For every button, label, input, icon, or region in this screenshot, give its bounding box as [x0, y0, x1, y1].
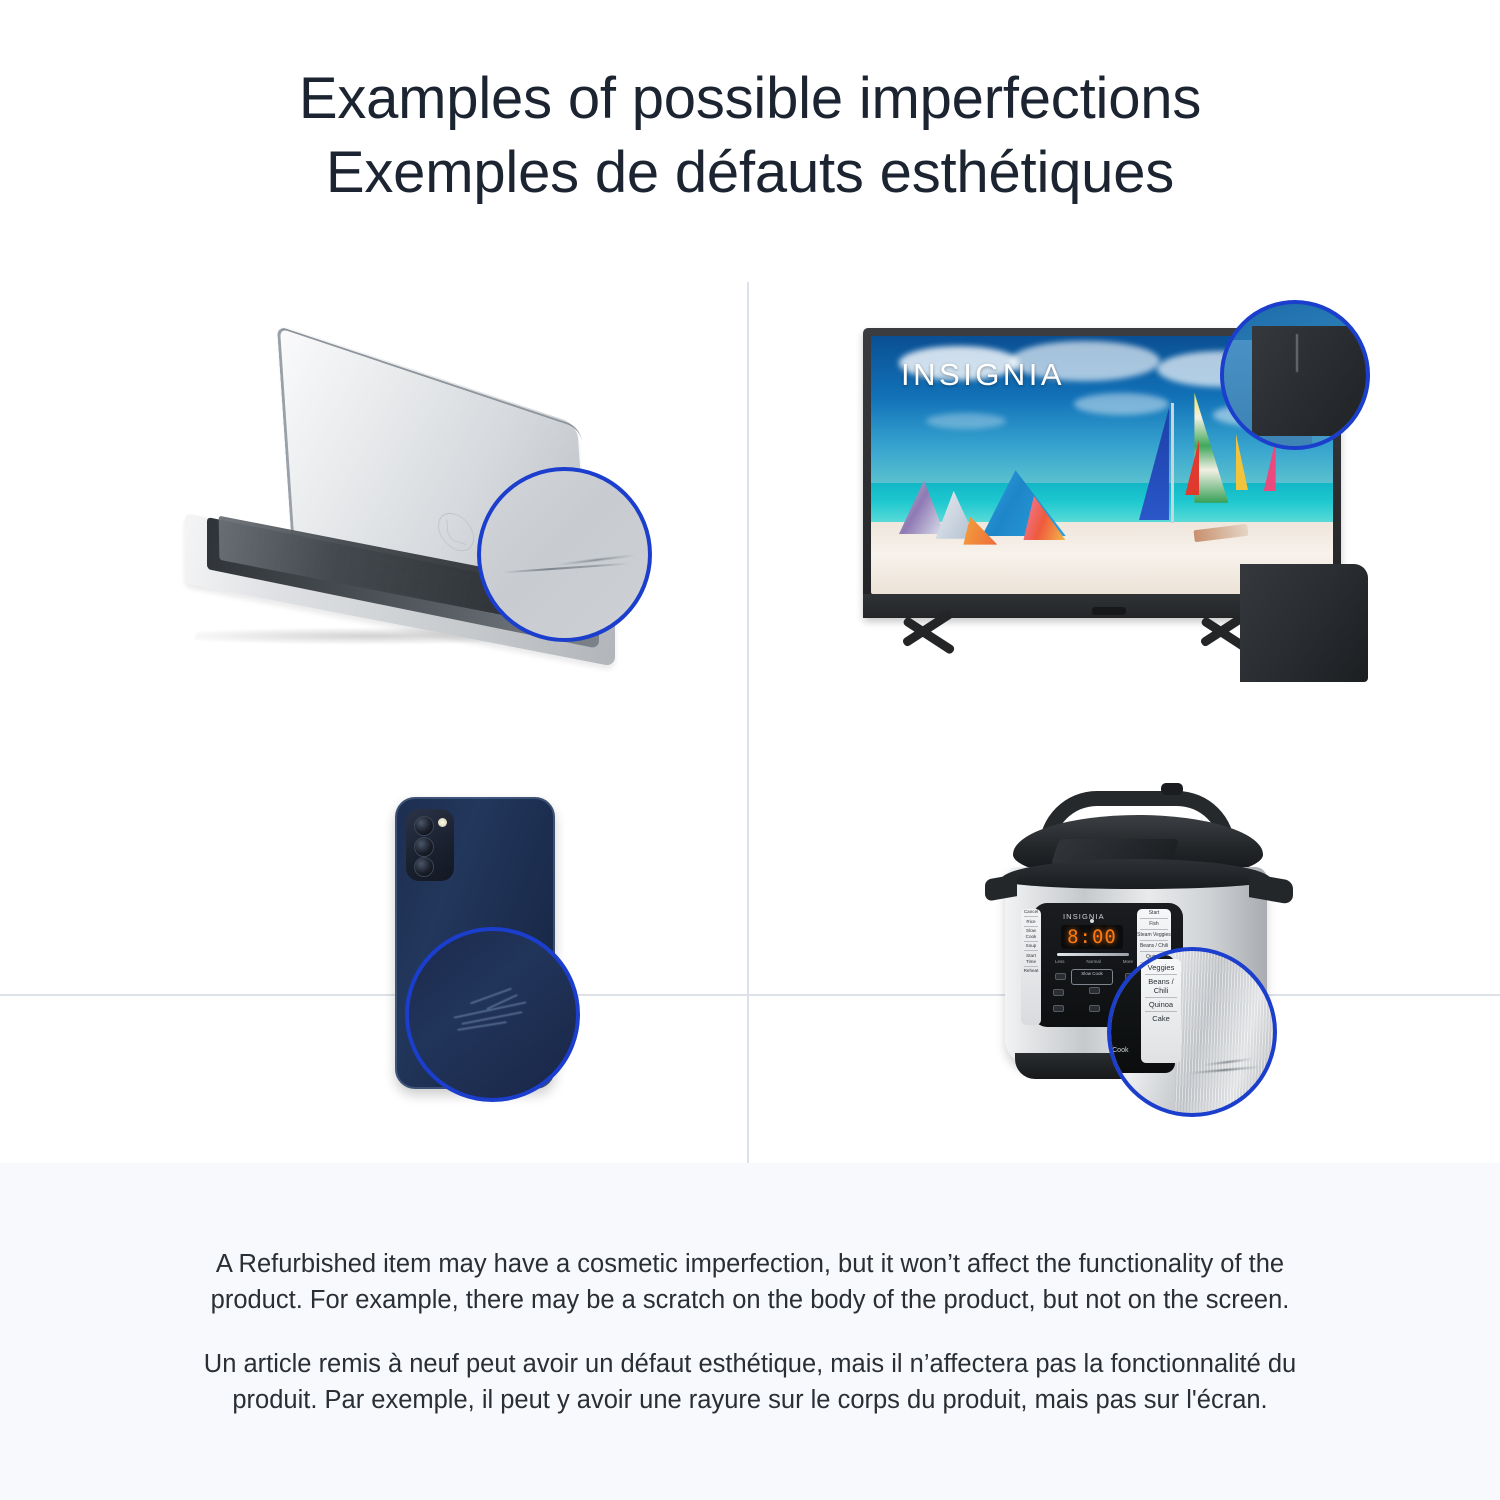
- divider: [1024, 916, 1038, 917]
- tv-ir-receiver-icon: [1092, 607, 1126, 615]
- cooker-brushed-finish: [1175, 951, 1277, 1117]
- cooker-manual-button[interactable]: [1053, 989, 1064, 996]
- cooker-preset-button[interactable]: [1053, 1005, 1064, 1012]
- cooker-brand-label: INSIGNIA: [1063, 912, 1105, 921]
- divider: [1145, 1011, 1177, 1012]
- tv-magnified-bezel-corner: [1252, 326, 1370, 436]
- divider: [1024, 950, 1038, 951]
- phone-camera-module: [406, 809, 454, 881]
- cooker-left-label: Slow Cook: [1021, 928, 1041, 939]
- footer-paragraph-en: A Refurbished item may have a cosmetic i…: [188, 1246, 1313, 1318]
- cooker-right-label: Steam Veggies: [1137, 931, 1171, 938]
- camera-lens-icon: [414, 816, 434, 836]
- divider: [1024, 926, 1038, 927]
- cooker-mag-label: Quinoa: [1141, 1000, 1181, 1009]
- page-title-en: Examples of possible imperfections: [299, 62, 1201, 136]
- camera-lens-icon: [414, 837, 434, 857]
- cooker-mode-label: Slow Cook: [1072, 970, 1112, 977]
- divider: [1024, 941, 1038, 942]
- cooker-mag-side-label: Slow Cook: [1107, 1047, 1128, 1054]
- magnifier-cooker-scratch: Delay Slow Cook Veggies Beans / Chili Qu…: [1107, 947, 1277, 1117]
- divider: [1024, 966, 1038, 967]
- page-title-fr: Exemples de défauts esthétiques: [326, 136, 1174, 210]
- tv-leg-left: [907, 616, 1003, 660]
- cooker-mag-label: Veggies: [1141, 963, 1181, 972]
- insignia-screen-logo: INSIGNIA: [901, 357, 1065, 393]
- camera-flash-icon: [438, 818, 447, 827]
- cooker-right-label: Beans / Chili: [1137, 942, 1171, 949]
- cooker-keepwarm-button[interactable]: [1089, 987, 1100, 994]
- example-pressure-cooker: INSIGNIA 8:00 Less Normal More Slow Cook: [985, 777, 1315, 1117]
- cooker-display-value: 8:00: [1067, 926, 1117, 948]
- cooker-magnified-button-column[interactable]: Veggies Beans / Chili Quinoa Cake: [1141, 959, 1181, 1063]
- cooker-left-label: Soup: [1021, 943, 1041, 949]
- magnifier-laptop-scratch: [477, 467, 652, 642]
- grid-divider-vertical: [747, 282, 749, 1163]
- cooker-mode-button[interactable]: Slow Cook: [1071, 969, 1113, 985]
- cooker-left-button-column[interactable]: Cancel Rice Slow Cook Soup Start Time Re…: [1021, 909, 1041, 1025]
- magnifier-tv-bezel-scuff: [1220, 300, 1370, 450]
- cooker-right-label: Fish: [1137, 920, 1171, 927]
- cooker-left-label: Cancel: [1021, 909, 1041, 915]
- tv-magnified-corner-overflow: [1240, 564, 1368, 682]
- tv-cloud: [1074, 393, 1169, 415]
- example-laptop: [185, 377, 665, 667]
- examples-grid: INSIGNIA: [0, 272, 1500, 1163]
- page-footer: A Refurbished item may have a cosmetic i…: [0, 1163, 1500, 1500]
- divider: [1140, 929, 1168, 930]
- divider: [1145, 974, 1177, 975]
- tv-sea: [871, 483, 1333, 524]
- refurbished-imperfections-infographic: Examples of possible imperfections Exemp…: [0, 0, 1500, 1500]
- tv-mast: [1171, 403, 1174, 523]
- cooker-mag-label: Beans / Chili: [1141, 977, 1181, 995]
- scale-label-less: Less: [1055, 959, 1065, 964]
- footer-paragraph-fr: Un article remis à neuf peut avoir un dé…: [188, 1346, 1313, 1418]
- scale-label-normal: Normal: [1086, 959, 1101, 964]
- divider: [1140, 940, 1168, 941]
- magnifier-phone-scratches: [405, 927, 580, 1102]
- phone-scratch-mark: [470, 988, 512, 1005]
- cooker-left-label: Start Time: [1021, 953, 1041, 964]
- cooker-mag-label: Cake: [1141, 1014, 1181, 1023]
- cooker-indicator-led: [1090, 919, 1094, 923]
- cooker-left-label: Reheat: [1021, 968, 1041, 974]
- cooker-preset-button[interactable]: [1089, 1005, 1100, 1012]
- cooker-minus-button[interactable]: [1055, 973, 1066, 980]
- cooker-display: 8:00: [1061, 925, 1123, 949]
- divider: [1145, 997, 1177, 998]
- camera-lens-icon: [414, 857, 434, 877]
- page-header: Examples of possible imperfections Exemp…: [0, 0, 1500, 272]
- cooker-left-label: Rice: [1021, 919, 1041, 925]
- cooker-steam-valve-icon: [1161, 783, 1183, 795]
- divider: [1140, 918, 1168, 919]
- tv-bezel-scuff-mark: [1296, 334, 1298, 372]
- cooker-right-label: Start: [1137, 909, 1171, 916]
- example-phone: [395, 797, 570, 1097]
